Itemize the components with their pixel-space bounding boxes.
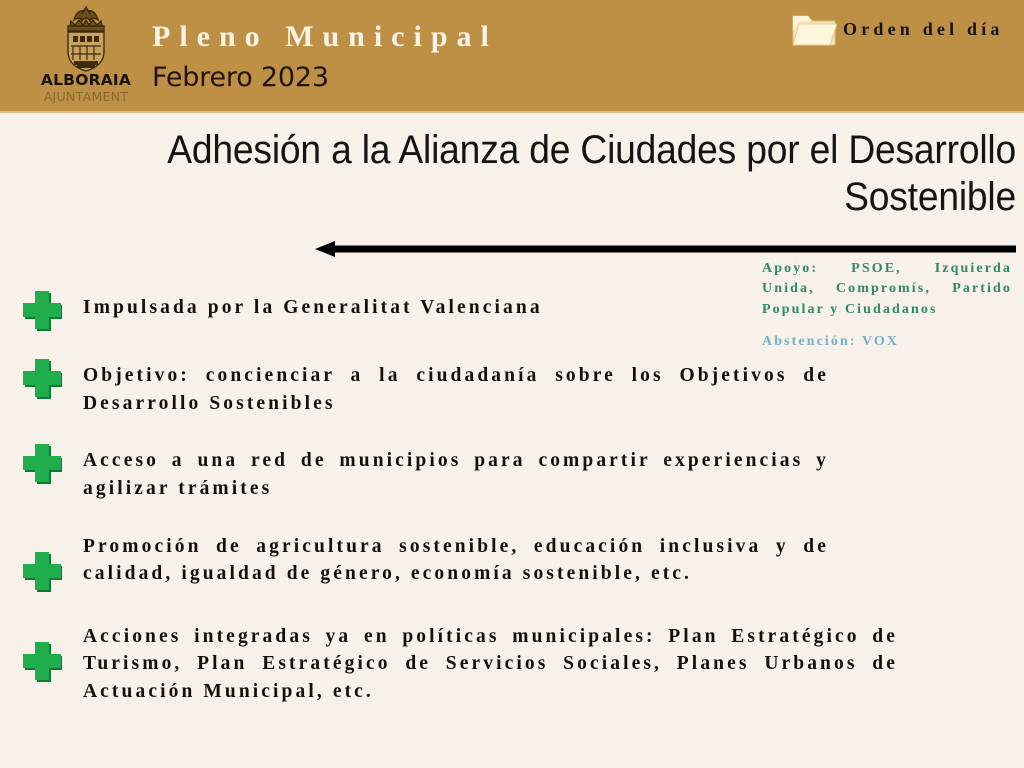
coat-of-arms-bat-shield-icon — [56, 4, 116, 72]
list-item: Objetivo: concienciar a la ciudadanía so… — [18, 356, 908, 417]
green-plus-icon — [18, 639, 62, 683]
list-item: Impulsada por la Generalitat Valenciana — [18, 288, 908, 332]
green-plus-icon — [18, 288, 62, 332]
list-item-text: Acciones integradas ya en políticas muni… — [83, 617, 898, 706]
page-title: Adhesión a la Alianza de Ciudades por el… — [108, 127, 1016, 221]
list-item-text: Impulsada por la Generalitat Valenciana — [83, 288, 908, 322]
green-plus-icon — [18, 441, 62, 485]
header-title: Pleno Municipal — [152, 20, 498, 54]
list-item-text: Objetivo: concienciar a la ciudadanía so… — [83, 356, 829, 417]
folder-icon — [791, 9, 843, 49]
logo-subwordmark: AJUNTAMENT — [44, 90, 129, 103]
left-arrow-icon — [313, 238, 1016, 260]
green-plus-icon — [18, 549, 62, 593]
agenda-badge: Orden del día — [791, 7, 1004, 51]
list-item-text: Promoción de agricultura sostenible, edu… — [83, 527, 829, 588]
header-subtitle: Febrero 2023 — [152, 62, 329, 93]
header-bar: ALBORAIA AJUNTAMENT Pleno Municipal Febr… — [0, 0, 1024, 113]
logo-wordmark: ALBORAIA — [41, 73, 131, 89]
list-item: Promoción de agricultura sostenible, edu… — [18, 527, 908, 593]
municipality-logo: ALBORAIA AJUNTAMENT — [38, 4, 134, 110]
list-item: Acciones integradas ya en políticas muni… — [18, 617, 908, 706]
list-item: Acceso a una red de municipios para comp… — [18, 441, 908, 502]
bullet-list: Impulsada por la Generalitat Valenciana … — [18, 288, 908, 730]
agenda-badge-label: Orden del día — [843, 19, 1004, 40]
list-item-text: Acceso a una red de municipios para comp… — [83, 441, 829, 502]
green-plus-icon — [18, 356, 62, 400]
